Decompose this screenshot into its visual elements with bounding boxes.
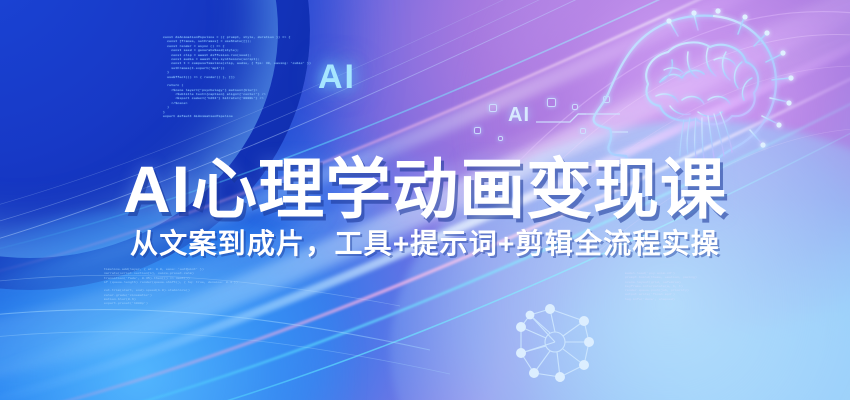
page-title: AI心理学动画变现课 (123, 136, 727, 232)
network-nodes-icon (500, 295, 610, 390)
page-subtitle: 从文案到成片，工具+提示词+剪辑全流程实操 (130, 222, 720, 262)
code-text-bottom-right: model.load('psy-anim-v3') prompt.build(t… (625, 272, 697, 302)
code-text-bottom-left: timeline.add(layer, { at: 0.0, ease: 'ou… (100, 268, 238, 306)
code-text-top-left: const AiAnimationPipeline = ({ prompt, s… (163, 35, 311, 118)
ai-word-large: AI (318, 58, 356, 97)
course-promo-banner: const AiAnimationPipeline = ({ prompt, s… (0, 0, 850, 400)
